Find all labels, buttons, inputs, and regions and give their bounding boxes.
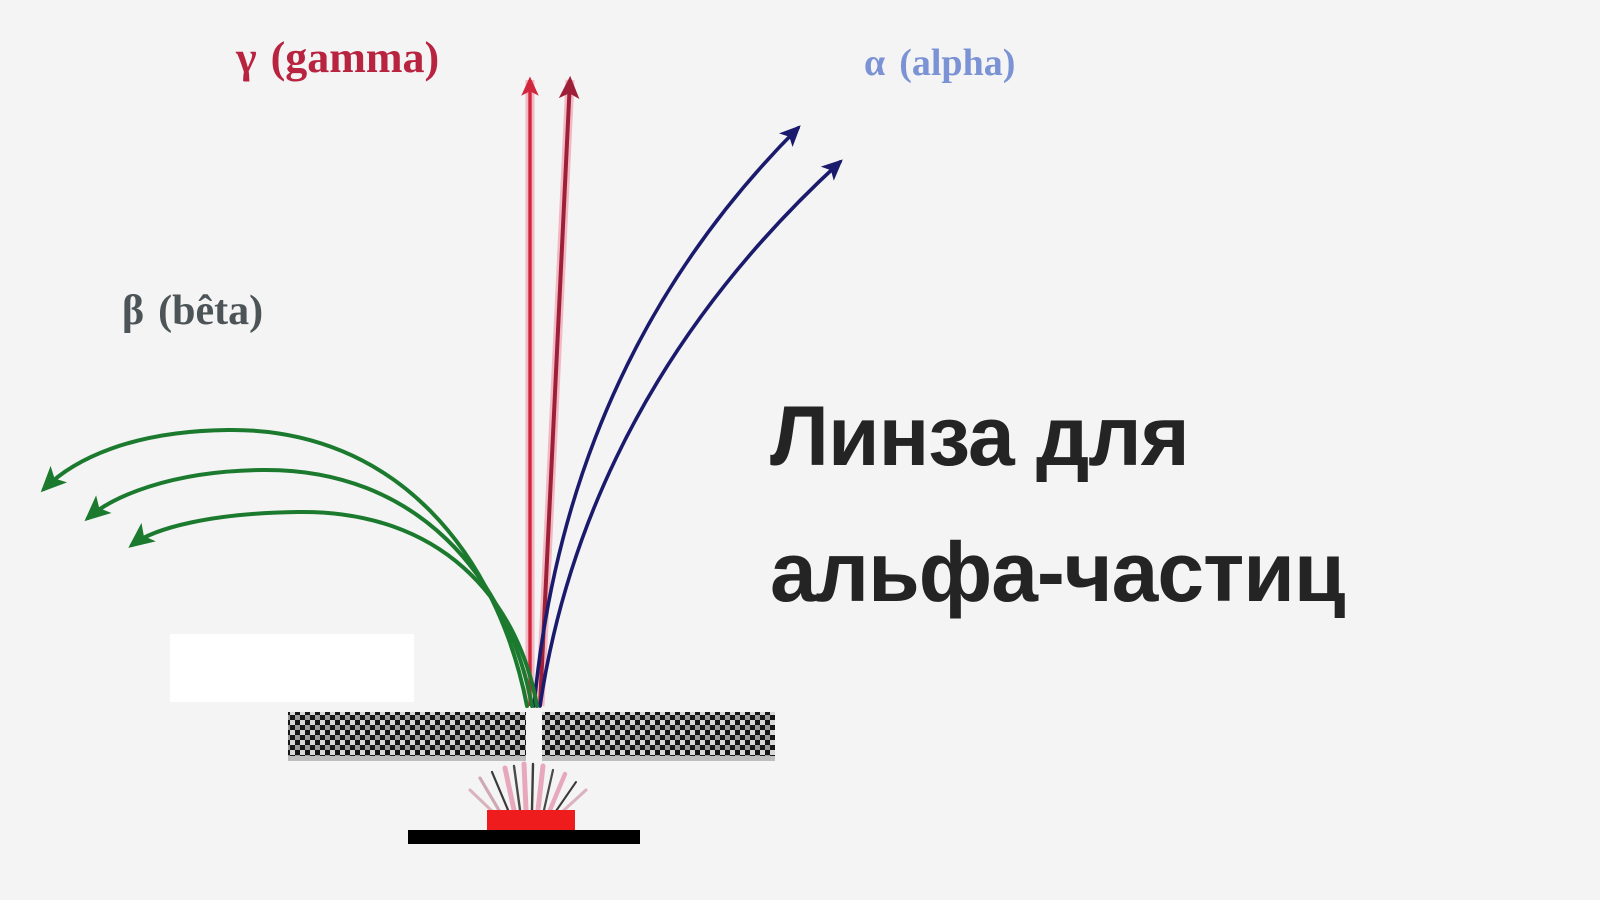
barrier-left-half [288, 712, 526, 760]
caption-line-1: Линза для [770, 368, 1600, 504]
alpha-label: α(alpha) [864, 44, 1015, 82]
gamma-rays [530, 80, 570, 706]
source-base-line [408, 830, 640, 844]
beta-glyph: β [122, 288, 158, 334]
white-redaction-box [170, 634, 414, 702]
beta-label: β(bêta) [122, 290, 263, 332]
caption-overlay: Линза для альфа-частиц [770, 368, 1600, 640]
gamma-label-text: (gamma) [271, 33, 440, 82]
source-emission-fan [470, 764, 586, 813]
barrier-left-shadow [288, 756, 526, 761]
barrier-right-half [542, 712, 775, 760]
alpha-label-text: (alpha) [899, 42, 1015, 84]
diagram-canvas: γ(gamma) α(alpha) β(bêta) Линза для альф… [0, 0, 1600, 900]
gamma-label: γ(gamma) [236, 36, 439, 80]
alpha-ray-1 [534, 128, 798, 706]
shielding-barrier [288, 712, 775, 761]
barrier-right-shadow [542, 756, 775, 761]
caption-line-2: альфа-частиц [770, 504, 1600, 640]
alpha-glyph: α [864, 42, 899, 84]
gamma-ray-2 [540, 80, 570, 706]
gamma-glyph: γ [236, 33, 271, 82]
beta-label-text: (bêta) [158, 288, 263, 334]
